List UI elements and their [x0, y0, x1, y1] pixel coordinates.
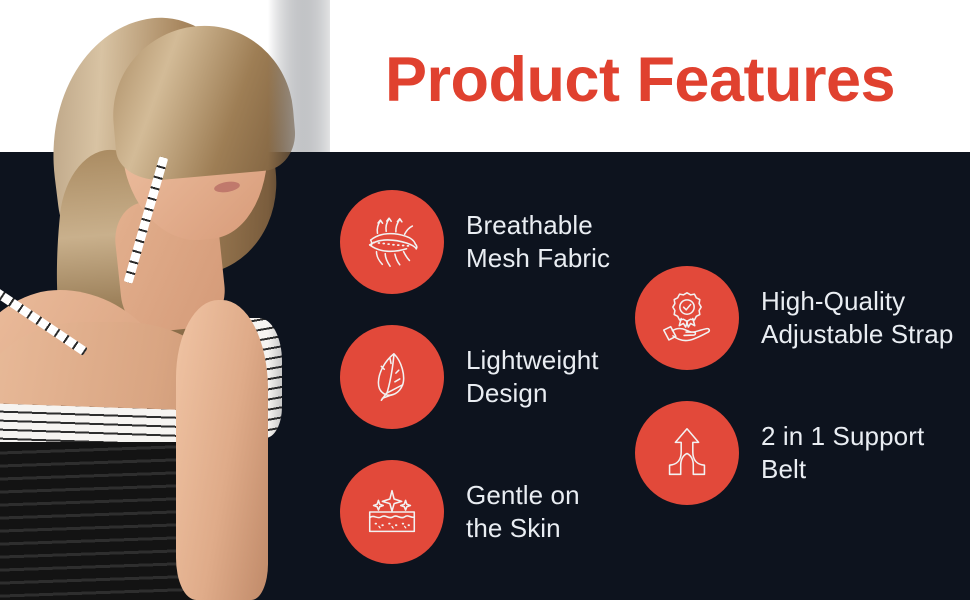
page-title: Product Features [330, 34, 950, 126]
feature-label: Gentle on the Skin [466, 479, 580, 546]
feature-item-2-in-1-support-belt[interactable]: 2 in 1 Support Belt [635, 401, 924, 505]
feature-label: Lightweight Design [466, 344, 599, 411]
feature-item-gentle-on-the-skin[interactable]: Gentle on the Skin [340, 460, 580, 564]
hand-quality-badge-icon [635, 266, 739, 370]
model-photo [0, 0, 330, 600]
feature-item-lightweight-design[interactable]: Lightweight Design [340, 325, 599, 429]
feature-item-breathable-mesh-fabric[interactable]: Breathable Mesh Fabric [340, 190, 610, 294]
breathable-mesh-icon [340, 190, 444, 294]
feature-label: 2 in 1 Support Belt [761, 420, 924, 487]
feather-icon [340, 325, 444, 429]
product-features-banner: Product Features Breathable Mesh Fabric [0, 0, 970, 600]
photo-fade-white [250, 0, 330, 152]
feature-label: High-Quality Adjustable Strap [761, 285, 953, 352]
feature-item-high-quality-adjustable-strap[interactable]: High-Quality Adjustable Strap [635, 266, 953, 370]
feature-label: Breathable Mesh Fabric [466, 209, 610, 276]
merging-arrows-icon [635, 401, 739, 505]
skin-sparkle-icon [340, 460, 444, 564]
